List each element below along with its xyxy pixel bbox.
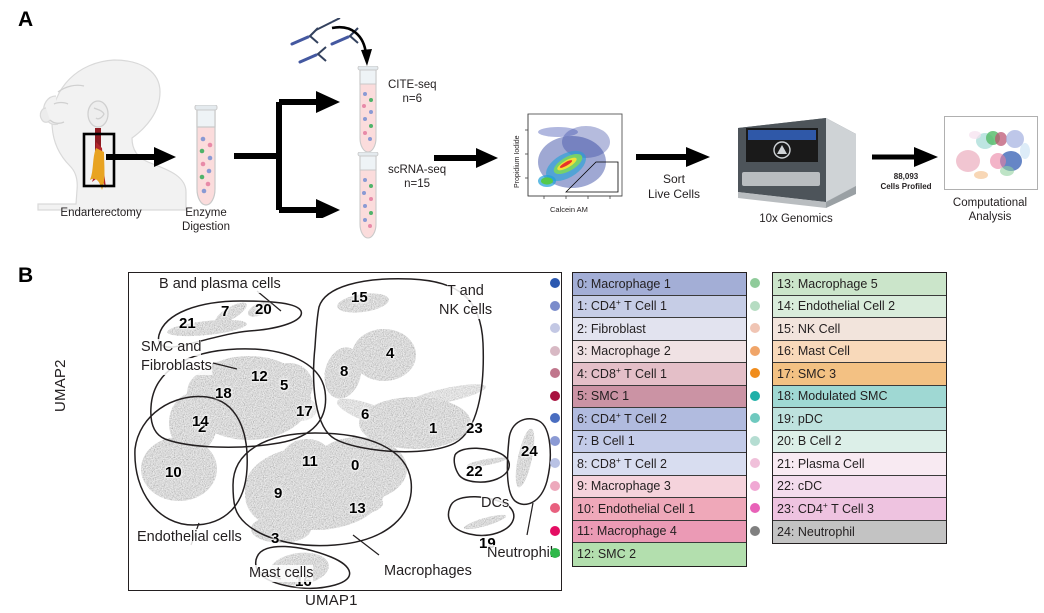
legend-box-right: 13: Macrophage 514: Endothelial Cell 215… — [772, 272, 947, 544]
legend-label-12: 12: SMC 2 — [573, 548, 636, 561]
legend-label-4: 4: CD8+ T Cell 1 — [573, 368, 667, 381]
legend-dot-9 — [550, 481, 560, 491]
arrow-to-flow-cytometry — [434, 146, 498, 170]
arrow-to-computational-analysis — [872, 146, 938, 168]
umap-group-label-mast-cells: Mast cells — [249, 565, 313, 582]
legend-label-11: 11: Macrophage 4 — [573, 525, 677, 538]
flow-x-axis-label: Calcein AM — [550, 205, 588, 214]
arrow-split-to-assays — [234, 88, 346, 218]
legend-dot-24 — [750, 526, 760, 536]
caption-tenx-genomics: 10x Genomics — [726, 212, 866, 226]
legend-row-12[interactable]: 12: SMC 2 — [573, 543, 746, 566]
legend-row-20[interactable]: 20: B Cell 2 — [773, 431, 946, 454]
legend-row-10[interactable]: 10: Endothelial Cell 1 — [573, 498, 746, 521]
legend-label-24: 24: Neutrophil — [773, 526, 855, 539]
legend-label-22: 22: cDC — [773, 480, 822, 493]
legend-label-18: 18: Modulated SMC — [773, 390, 887, 403]
legend-label-7: 7: B Cell 1 — [573, 435, 635, 448]
legend-dot-12 — [550, 548, 560, 558]
scrna-seq-tube — [352, 152, 384, 244]
legend-label-17: 17: SMC 3 — [773, 368, 836, 381]
umap1-axis-label: UMAP1 — [305, 592, 358, 609]
legend-row-8[interactable]: 8: CD8+ T Cell 2 — [573, 453, 746, 476]
legend-row-11[interactable]: 11: Macrophage 4 — [573, 521, 746, 544]
legend-dot-0 — [550, 278, 560, 288]
legend-dot-5 — [550, 391, 560, 401]
umap-group-label-smc-and-fibroblasts-2: Fibroblasts — [141, 358, 212, 375]
legend-dot-22 — [750, 481, 760, 491]
legend-row-16[interactable]: 16: Mast Cell — [773, 341, 946, 364]
cite-seq-tube — [352, 66, 384, 158]
legend-label-13: 13: Macrophage 5 — [773, 278, 878, 291]
legend-row-19[interactable]: 19: pDC — [773, 408, 946, 431]
legend-row-24[interactable]: 24: Neutrophil — [773, 521, 946, 544]
legend-label-9: 9: Macrophage 3 — [573, 480, 671, 493]
legend-row-1[interactable]: 1: CD4+ T Cell 1 — [573, 296, 746, 319]
legend-label-8: 8: CD8+ T Cell 2 — [573, 458, 667, 471]
umap-group-label-t-and-nk-cells-2: NK cells — [439, 302, 492, 319]
legend-dot-15 — [750, 323, 760, 333]
label-cite-seq: CITE-seq n=6 — [388, 78, 437, 106]
legend-row-23[interactable]: 23: CD4+ T Cell 3 — [773, 498, 946, 521]
legend-label-20: 20: B Cell 2 — [773, 435, 842, 448]
legend-dot-21 — [750, 458, 760, 468]
legend-row-13[interactable]: 13: Macrophage 5 — [773, 273, 946, 296]
legend-row-5[interactable]: 5: SMC 1 — [573, 386, 746, 409]
legend-row-6[interactable]: 6: CD4+ T Cell 2 — [573, 408, 746, 431]
legend-column-right: 13: Macrophage 514: Endothelial Cell 215… — [772, 272, 947, 544]
legend-label-15: 15: NK Cell — [773, 323, 840, 336]
flow-y-axis-label: Propidium Iodide — [514, 135, 521, 188]
legend-row-14[interactable]: 14: Endothelial Cell 2 — [773, 296, 946, 319]
legend-label-16: 16: Mast Cell — [773, 345, 850, 358]
legend-label-10: 10: Endothelial Cell 1 — [573, 503, 695, 516]
legend-dot-17 — [750, 368, 760, 378]
panel-a-letter: A — [18, 8, 33, 32]
label-cells-profiled: 88,093 Cells Profiled — [866, 172, 946, 192]
legend-dot-23 — [750, 503, 760, 513]
arrow-sort-live-cells — [636, 146, 710, 168]
legend-row-9[interactable]: 9: Macrophage 3 — [573, 476, 746, 499]
legend-dot-16 — [750, 346, 760, 356]
legend-label-21: 21: Plasma Cell — [773, 458, 865, 471]
legend-dot-19 — [750, 413, 760, 423]
umap2-axis-label: UMAP2 — [52, 359, 69, 412]
legend-dot-20 — [750, 436, 760, 446]
arrow-endarterectomy-to-digestion — [106, 145, 176, 169]
legend-dot-13 — [750, 278, 760, 288]
legend-row-4[interactable]: 4: CD8+ T Cell 1 — [573, 363, 746, 386]
umap-group-label-dcs: DCs — [481, 495, 509, 512]
legend-dot-4 — [550, 368, 560, 378]
legend-row-17[interactable]: 17: SMC 3 — [773, 363, 946, 386]
legend-dot-11 — [550, 526, 560, 536]
legend-row-15[interactable]: 15: NK Cell — [773, 318, 946, 341]
legend-box-left: 0: Macrophage 11: CD4+ T Cell 12: Fibrob… — [572, 272, 747, 567]
label-sort-live-cells: Sort Live Cells — [628, 172, 720, 202]
flow-cytometry-plot: Propidium Iodide Calcein A — [508, 110, 628, 218]
legend-dot-1 — [550, 301, 560, 311]
legend-label-5: 5: SMC 1 — [573, 390, 629, 403]
legend-dot-3 — [550, 346, 560, 356]
legend-row-7[interactable]: 7: B Cell 1 — [573, 431, 746, 454]
legend-label-23: 23: CD4+ T Cell 3 — [773, 503, 874, 516]
legend-dot-10 — [550, 503, 560, 513]
arrow-antibody-to-tube — [330, 22, 380, 68]
tenx-genomics-instrument — [730, 112, 862, 208]
umap-group-label-b-and-plasma-cells: B and plasma cells — [159, 276, 281, 293]
legend-label-3: 3: Macrophage 2 — [573, 345, 671, 358]
legend-label-14: 14: Endothelial Cell 2 — [773, 300, 895, 313]
legend-row-21[interactable]: 21: Plasma Cell — [773, 453, 946, 476]
enzyme-digestion-tube — [188, 105, 224, 213]
legend-label-0: 0: Macrophage 1 — [573, 278, 671, 291]
legend-row-18[interactable]: 18: Modulated SMC — [773, 386, 946, 409]
legend-dot-18 — [750, 391, 760, 401]
legend-row-0[interactable]: 0: Macrophage 1 — [573, 273, 746, 296]
panel-b-letter: B — [18, 264, 33, 288]
legend-dot-2 — [550, 323, 560, 333]
caption-computational-analysis: Computational Analysis — [922, 196, 1044, 224]
legend-dot-7 — [550, 436, 560, 446]
caption-endarterectomy: Endarterectomy — [26, 206, 176, 220]
umap-plot[interactable]: 0123456789101112131415161718192021222324… — [128, 272, 562, 591]
umap-group-label-endothelial-cells: Endothelial cells — [137, 529, 242, 546]
umap-group-label-smc-and-fibroblasts-1: SMC and — [141, 339, 201, 356]
umap-group-label-t-and-nk-cells-1: T and — [447, 283, 484, 300]
legend-label-6: 6: CD4+ T Cell 2 — [573, 413, 667, 426]
legend-dot-14 — [750, 301, 760, 311]
legend-label-2: 2: Fibroblast — [573, 323, 646, 336]
panel-a-workflow: A Endarterectomy — [0, 0, 1044, 252]
legend-row-3[interactable]: 3: Macrophage 2 — [573, 341, 746, 364]
legend-dot-8 — [550, 458, 560, 468]
legend-label-1: 1: CD4+ T Cell 1 — [573, 300, 667, 313]
umap-group-label-macrophages: Macrophages — [384, 563, 472, 580]
cluster-legend: 0: Macrophage 11: CD4+ T Cell 12: Fibrob… — [572, 272, 1032, 582]
computational-analysis-thumbnail — [944, 116, 1038, 190]
panel-b-umap: B UMAP2 UMAP1 — [0, 252, 1044, 613]
legend-label-19: 19: pDC — [773, 413, 823, 426]
endarterectomy-illustration — [36, 52, 196, 212]
legend-column-left: 0: Macrophage 11: CD4+ T Cell 12: Fibrob… — [572, 272, 747, 567]
legend-row-2[interactable]: 2: Fibroblast — [573, 318, 746, 341]
legend-dot-6 — [550, 413, 560, 423]
legend-row-22[interactable]: 22: cDC — [773, 476, 946, 499]
